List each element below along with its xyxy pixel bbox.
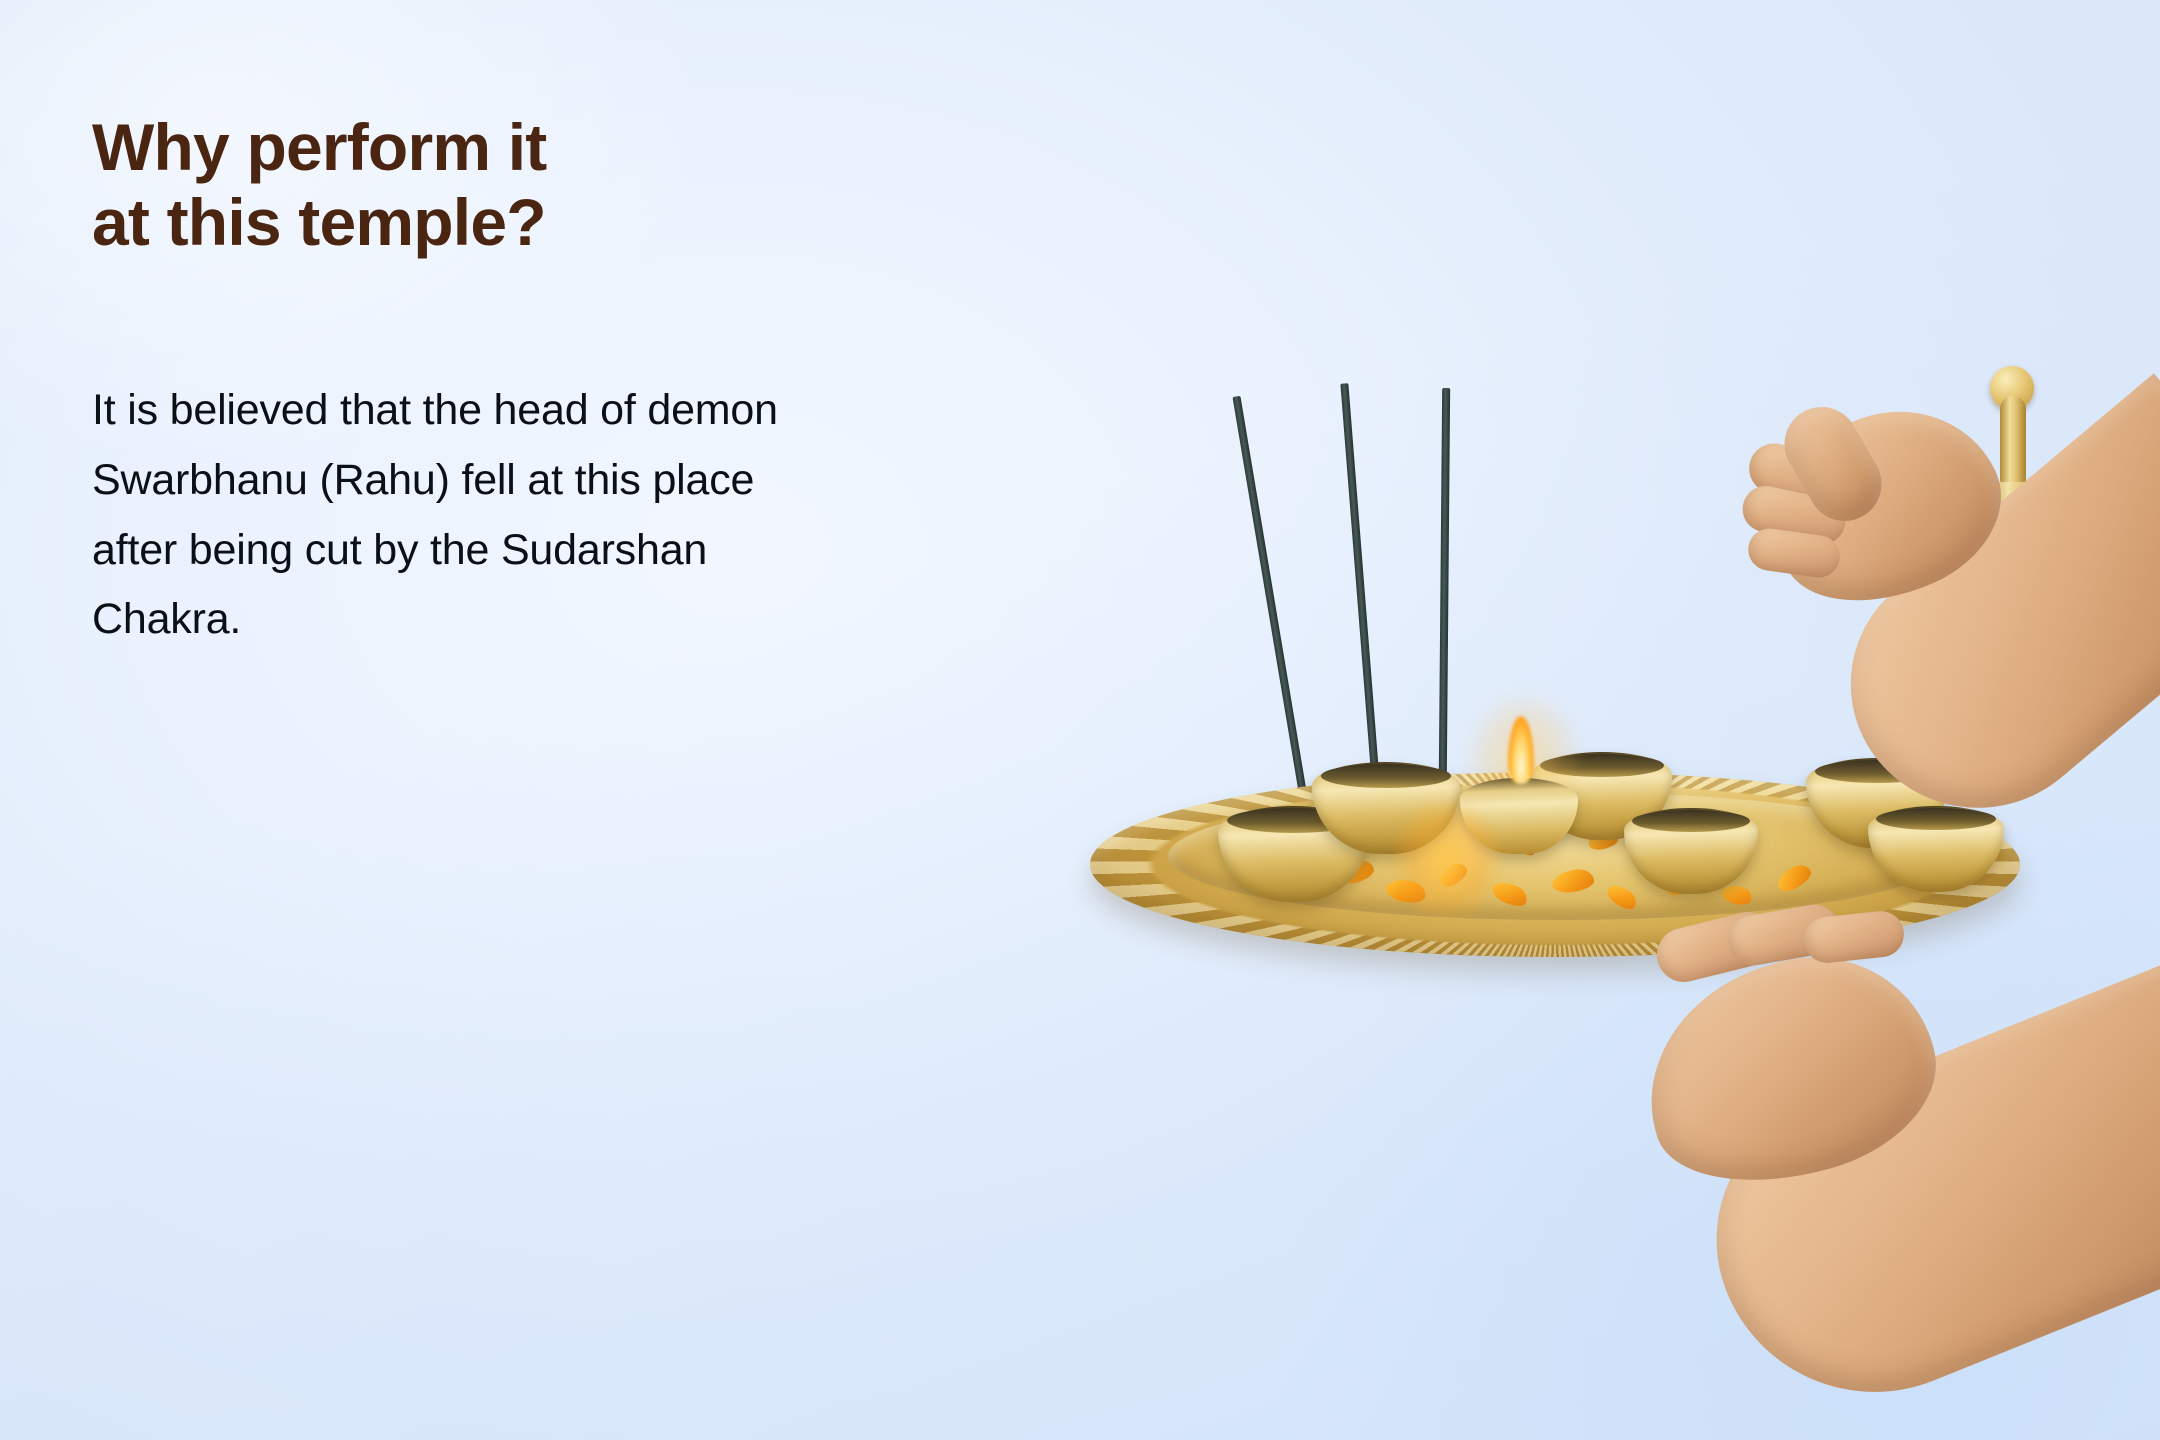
hand-holding-thali bbox=[1460, 900, 2160, 1440]
page-title: Why perform it at this temple? bbox=[92, 110, 1092, 260]
body-paragraph: It is believed that the head of demon Sw… bbox=[92, 376, 792, 655]
hand-ringing-bell bbox=[1560, 360, 2160, 900]
slide-canvas: Why perform it at this temple? It is bel… bbox=[0, 0, 2160, 1440]
text-column: Why perform it at this temple? It is bel… bbox=[92, 110, 1092, 698]
puja-photo bbox=[1040, 0, 2160, 1440]
bell-handle bbox=[2000, 396, 2026, 492]
